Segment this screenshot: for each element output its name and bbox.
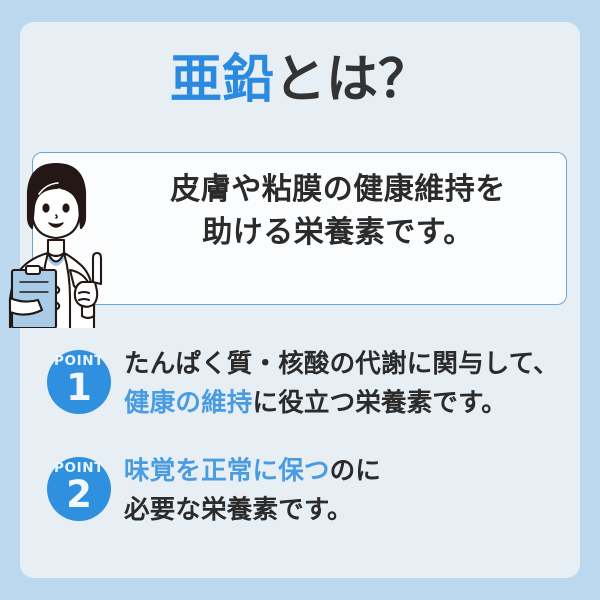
point-1-highlight: 健康の維持 (124, 388, 253, 418)
page-title: 亜鉛とは？ (0, 52, 600, 109)
point-item-1: POINT 1 たんぱく質・核酸の代謝に関与して、 健康の維持に役立つ栄養素です… (0, 345, 600, 435)
point-1-line-2-plain: に役立つ栄養素です。 (253, 388, 507, 418)
point-badge-2: POINT 2 (47, 457, 111, 521)
point-text-2: 味覚を正常に保つのに 必要な栄養素です。 (124, 452, 574, 530)
point-2-highlight: 味覚を正常に保つ (124, 456, 330, 486)
lead-line-1: 皮膚や粘膜の健康維持を (118, 169, 558, 212)
lead-line-2: 助ける栄養素です。 (118, 212, 558, 255)
lead-statement-text: 皮膚や粘膜の健康維持を 助ける栄養素です。 (118, 169, 558, 254)
point-2-line-1: 味覚を正常に保つのに (124, 452, 574, 491)
female-nutritionist-pointing-up-illustration (8, 158, 133, 328)
page-title-keyword: 亜鉛 (170, 50, 274, 110)
point-2-line-2: 必要な栄養素です。 (124, 491, 574, 530)
point-1-line-2: 健康の維持に役立つ栄養素です。 (124, 384, 574, 423)
point-badge-number: 1 (47, 369, 111, 406)
point-text-1: たんぱく質・核酸の代謝に関与して、 健康の維持に役立つ栄養素です。 (124, 345, 574, 423)
infographic-canvas: 亜鉛とは？ 皮膚や粘膜の健康維持を 助ける栄養素です。 (0, 0, 600, 600)
point-1-line-1: たんぱく質・核酸の代謝に関与して、 (124, 345, 574, 384)
point-item-2: POINT 2 味覚を正常に保つのに 必要な栄養素です。 (0, 452, 600, 542)
page-title-suffix: とは？ (274, 50, 430, 110)
point-badge-number: 2 (47, 476, 111, 513)
point-badge-1: POINT 1 (47, 350, 111, 414)
point-2-line-1-plain: のに (330, 456, 381, 486)
